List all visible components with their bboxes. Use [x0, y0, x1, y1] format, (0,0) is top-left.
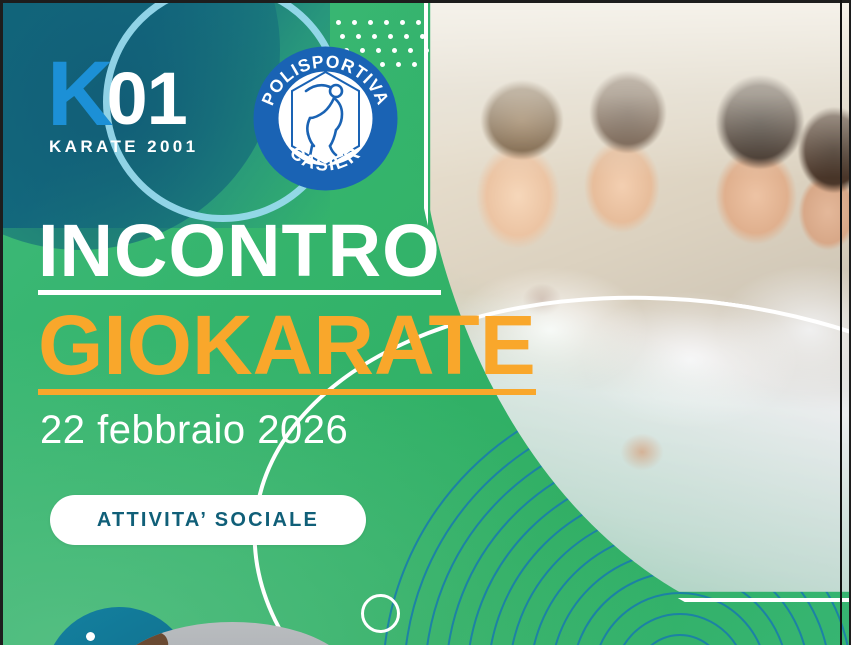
headline-incontro: INCONTRO	[38, 214, 441, 295]
attivita-sociale-label: ATTIVITA’ SOCIALE	[97, 509, 319, 532]
poster-canvas: K 01 KARATE 2001	[0, 0, 851, 645]
k01-logo-mark: K 01	[47, 56, 247, 133]
polisportiva-casier-logo: POLISPORTIVA CASIER	[248, 41, 403, 196]
white-circle-outline	[361, 594, 400, 633]
k01-logo: K 01 KARATE 2001	[47, 56, 247, 157]
teal-circle-dot	[86, 632, 95, 641]
event-date: 22 febbraio 2026	[40, 408, 348, 453]
headline-block: INCONTRO	[38, 214, 441, 295]
k01-logo-number: 01	[106, 68, 186, 133]
k01-logo-letter: K	[47, 56, 110, 133]
headline-giokarate: GIOKARATE	[38, 303, 536, 395]
k01-logo-subtitle: KARATE 2001	[49, 137, 247, 157]
attivita-sociale-badge[interactable]: ATTIVITA’ SOCIALE	[50, 495, 366, 545]
